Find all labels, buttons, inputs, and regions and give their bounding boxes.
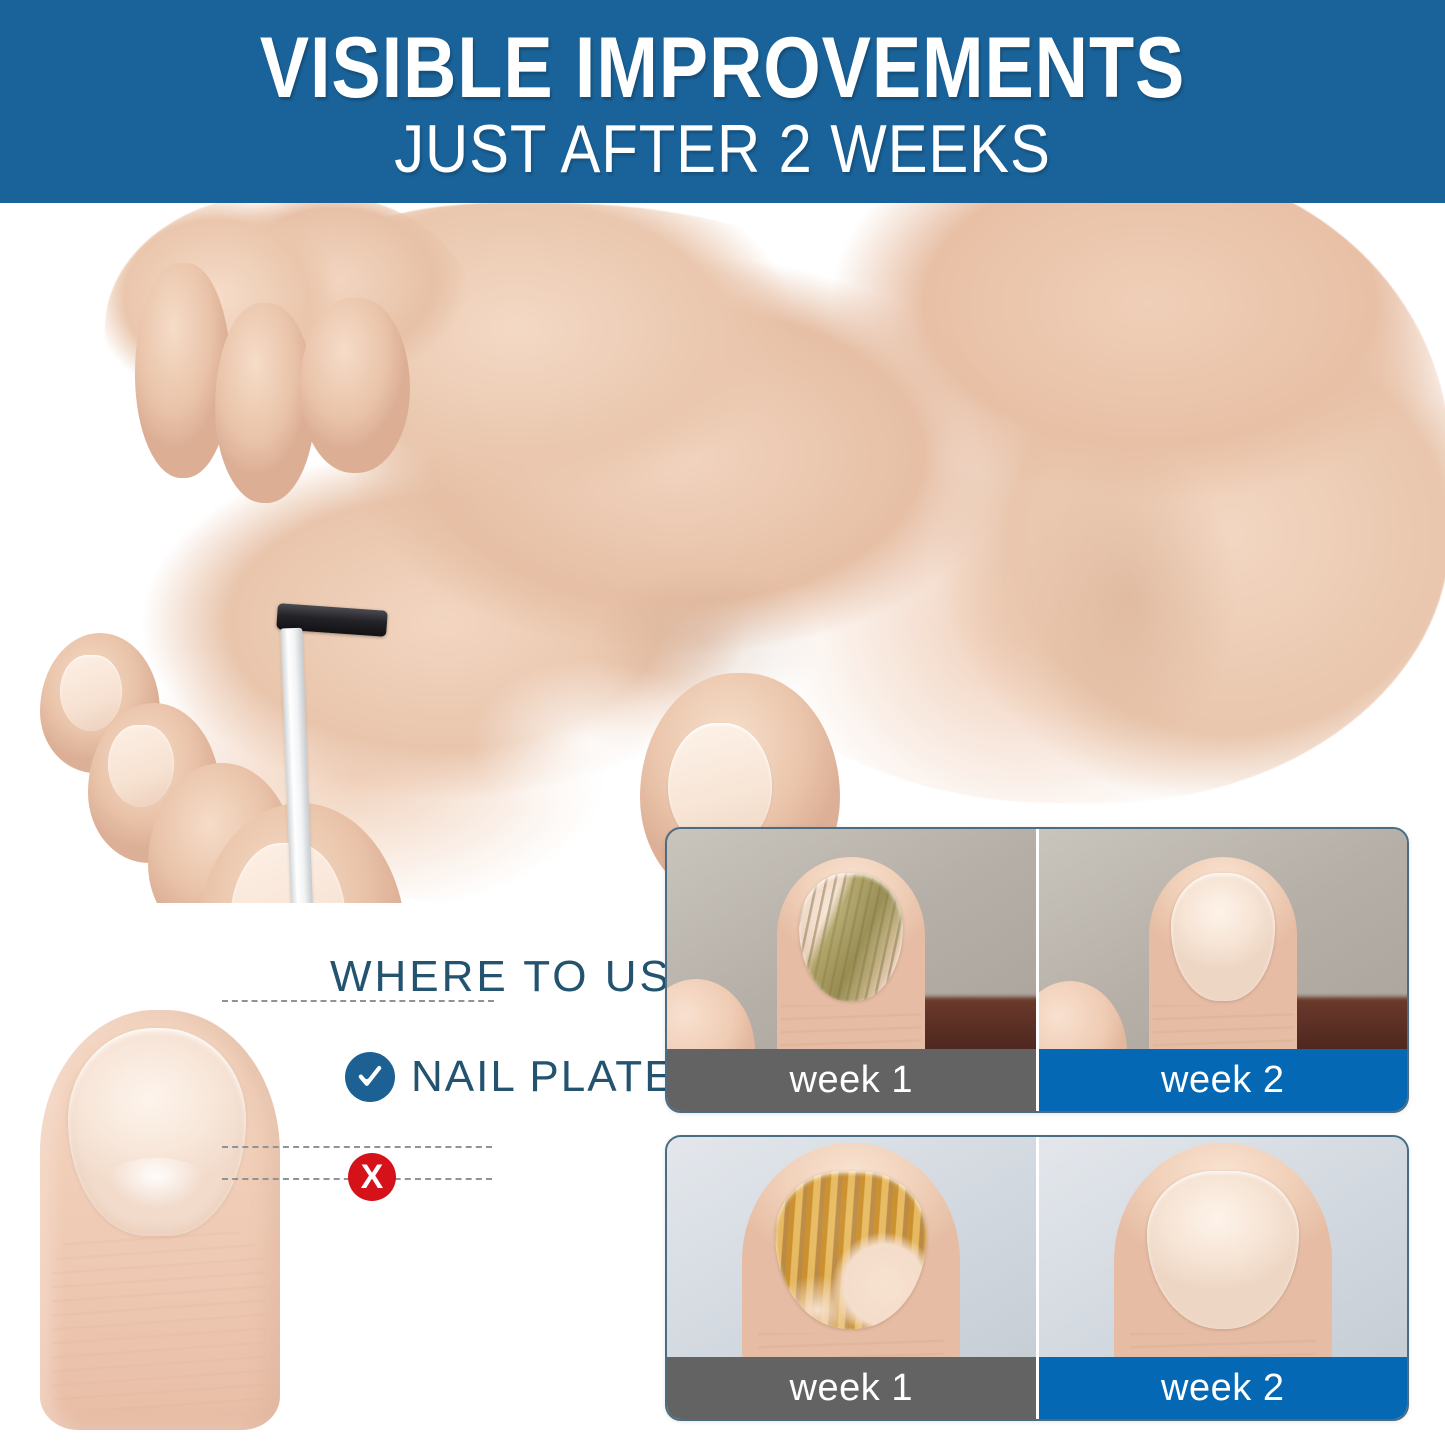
comparison-card-toenail: week 1 week 2 [665,1135,1409,1421]
comparison-card-fingernail: week 1 week 2 [665,827,1409,1113]
week2-label: week 2 [1161,1367,1284,1410]
nail-lunula [96,1158,216,1224]
comparison-after-panel: week 2 [1036,829,1408,1111]
week2-label-bar: week 2 [1039,1049,1408,1111]
comparison-after-panel: week 2 [1036,1137,1408,1419]
nail-plate-label: NAIL PLATE [411,1052,676,1102]
week1-label: week 1 [790,1059,913,1102]
product-infographic: VISIBLE IMPROVEMENTS JUST AFTER 2 WEEKS [0,0,1445,1445]
banner-subtitle: JUST AFTER 2 WEEKS [87,110,1359,188]
hero-photo [0,203,1445,903]
week2-label: week 2 [1161,1059,1284,1102]
finger-skin-texture [52,1230,266,1410]
week2-label-bar: week 2 [1039,1357,1408,1419]
back-foot-shading [980,383,1280,813]
week1-label-bar: week 1 [667,1049,1036,1111]
nail-plate-row: NAIL PLATE [345,1052,676,1102]
check-circle-icon [345,1052,395,1102]
leader-line-cuticle-upper [222,1146,492,1148]
comparison-before-panel: week 1 [667,829,1036,1111]
banner-title: VISIBLE IMPROVEMENTS [101,22,1344,114]
week1-label: week 1 [790,1367,913,1410]
toenail [108,725,174,807]
thumb [300,298,410,473]
comparison-before-panel: week 1 [667,1137,1036,1419]
x-circle-icon: X [348,1153,396,1201]
toenail [60,655,122,731]
finger [135,263,231,478]
header-banner: VISIBLE IMPROVEMENTS JUST AFTER 2 WEEKS [0,0,1445,203]
week1-label-bar: week 1 [667,1357,1036,1419]
where-to-use-heading: WHERE TO USE [330,952,704,1002]
